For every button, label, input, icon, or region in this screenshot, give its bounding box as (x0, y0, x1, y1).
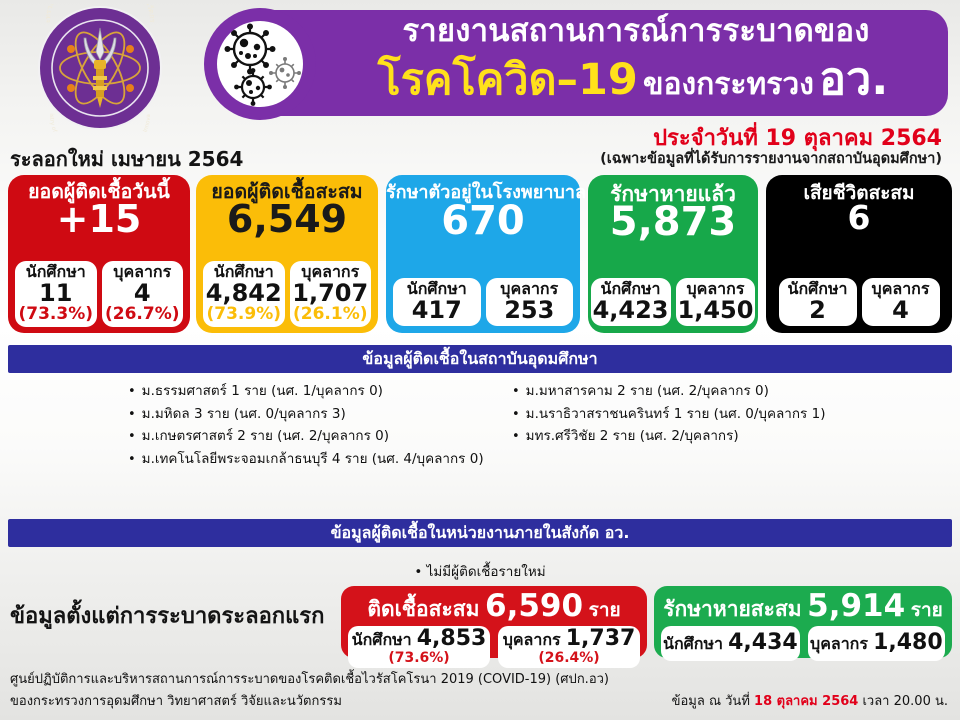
breakdown-label: บุคลากร (810, 634, 868, 653)
list-item-label: ม.มหาสารคาม 2 ราย (นศ. 2/บุคลากร 0) (526, 385, 769, 399)
stat-card-breakdown: นักศึกษา 4,423 บุคลากร 1,450 (588, 278, 758, 326)
breakdown-label: บุคลากร (503, 630, 561, 649)
summary-infected-unit: ราย (589, 599, 621, 621)
breakdown-students: นักศึกษา 4,842 (73.9%) (203, 261, 285, 327)
stat-card-total: 6 (766, 202, 952, 234)
footer-asof-prefix: ข้อมูล ณ วันที่ (672, 694, 754, 709)
breakdown-value: 4,853 (417, 626, 487, 651)
institution-list-left: •ม.ธรรมศาสตร์ 1 ราย (นศ. 1/บุคลากร 0) •ม… (128, 385, 528, 475)
breakdown-students: นักศึกษา 11 (73.3%) (15, 261, 97, 327)
summary-infected-label: ติดเชื้อสะสม (367, 597, 479, 621)
breakdown-pct: (73.6%) (350, 651, 488, 666)
breakdown-value: 4 (864, 298, 938, 323)
banner-agencies: ข้อมูลผู้ติดเชื้อในหน่วยงานภายในสังกัด อ… (8, 519, 952, 547)
footer: ศูนย์ปฏิบัติการและบริหารสถานการณ์การระบา… (0, 668, 960, 720)
bullet-icon: • (512, 408, 520, 421)
bullet-icon: • (128, 453, 136, 466)
breakdown-staff: บุคลากร 4 (862, 278, 940, 326)
list-item: •ม.เทคโนโลยีพระจอมเกล้าธนบุรี 4 ราย (นศ.… (128, 453, 528, 467)
stat-card-total: 5,873 (588, 203, 758, 242)
footer-asof-date: 18 ตุลาคม 2564 (754, 694, 858, 709)
breakdown-staff: บุคลากร 253 (486, 278, 574, 326)
list-item-label: ม.เทคโนโลยีพระจอมเกล้าธนบุรี 4 ราย (นศ. … (142, 453, 484, 467)
breakdown-students: นักศึกษา 417 (393, 278, 481, 326)
stat-card-breakdown: นักศึกษา 4,842 (73.9%) บุคลากร 1,707 (26… (196, 261, 378, 327)
breakdown-value: 1,450 (678, 298, 754, 323)
stat-card-total: +15 (8, 201, 190, 238)
banner-agencies-label: ข้อมูลผู้ติดเชื้อในหน่วยงานภายในสังกัด อ… (331, 521, 630, 546)
bullet-icon: • (512, 430, 520, 443)
breakdown-value: 4,434 (728, 630, 798, 655)
stat-card-recovered: รักษาหายแล้ว 5,873 นักศึกษา 4,423 บุคลาก… (588, 175, 758, 333)
breakdown-label: นักศึกษา (395, 280, 479, 298)
breakdown-label: บุคลากร (488, 280, 572, 298)
footer-line2: ของกระทรวงการอุดมศึกษา วิทยาศาสตร์ วิจัย… (10, 690, 342, 711)
footer-asof-suffix: เวลา 20.00 น. (858, 694, 948, 709)
mhesi-logo-graphic: กระทรวงการอุดมศึกษา วิทยาศาสตร์ วิจัยและ… (26, 4, 174, 132)
list-item: •ม.มหิดล 3 ราย (นศ. 0/บุคลากร 3) (128, 408, 528, 422)
breakdown-line: นักศึกษา 4,853 (350, 627, 488, 651)
breakdown-students: นักศึกษา 4,423 (591, 278, 671, 326)
list-item-label: ม.ธรรมศาสตร์ 1 ราย (นศ. 1/บุคลากร 0) (142, 385, 383, 399)
report-note: (เฉพาะข้อมูลที่ได้รับการรายงานจากสถาบันอ… (600, 147, 942, 170)
summary-infected-number: 6,590 (485, 588, 583, 624)
list-item: •ม.นราธิวาสราชนครินทร์ 1 ราย (นศ. 0/บุคล… (512, 408, 952, 422)
coronavirus-icon (217, 21, 303, 107)
list-item: •มทร.ศรีวิชัย 2 ราย (นศ. 2/บุคลากร) (512, 430, 952, 444)
summary-recovered-number: 5,914 (807, 588, 905, 624)
breakdown-value: 1,737 (566, 626, 636, 651)
stat-card-deaths: เสียชีวิตสะสม 6 นักศึกษา 2 บุคลากร 4 (766, 175, 952, 333)
list-item-label: ม.นราธิวาสราชนครินทร์ 1 ราย (นศ. 0/บุคลา… (526, 408, 826, 422)
bullet-icon: • (512, 385, 520, 398)
breakdown-pct: (26.1%) (292, 306, 370, 324)
stat-card-today: ยอดผู้ติดเชื้อวันนี้ +15 นักศึกษา 11 (73… (8, 175, 190, 333)
coronavirus-badge (204, 8, 316, 120)
breakdown-label: บุคลากร (864, 280, 938, 298)
breakdown-label: นักศึกษา (781, 280, 855, 298)
list-item-label: ม.เกษตรศาสตร์ 2 ราย (นศ. 2/บุคลากร 0) (142, 430, 389, 444)
breakdown-staff: บุคลากร 1,707 (26.1%) (290, 261, 372, 327)
stat-cards: ยอดผู้ติดเชื้อวันนี้ +15 นักศึกษา 11 (73… (0, 175, 960, 335)
coronavirus-icon-graphic (217, 21, 303, 107)
stat-card-breakdown: นักศึกษา 2 บุคลากร 4 (766, 278, 952, 326)
institution-list: •ม.ธรรมศาสตร์ 1 ราย (นศ. 1/บุคลากร 0) •ม… (0, 385, 960, 495)
list-item: •ม.ธรรมศาสตร์ 1 ราย (นศ. 1/บุคลากร 0) (128, 385, 528, 399)
banner-institutions: ข้อมูลผู้ติดเชื้อในสถาบันอุดมศึกษา (8, 345, 952, 373)
stat-card-total: 670 (386, 202, 580, 241)
bullet-icon: • (128, 408, 136, 421)
breakdown-staff: บุคลากร 1,450 (676, 278, 756, 326)
breakdown-line: นักศึกษา 4,434 (663, 631, 798, 655)
bullet-icon: • (128, 430, 136, 443)
breakdown-label: นักศึกษา (593, 280, 669, 298)
report-title-line2: โรคโควิด–19 ของกระทรวง อว. (318, 56, 948, 102)
stat-card-breakdown: นักศึกษา 11 (73.3%) บุคลากร 4 (26.7%) (8, 261, 190, 327)
header: กระทรวงการอุดมศึกษา วิทยาศาสตร์ วิจัยและ… (0, 0, 960, 128)
breakdown-value: 4,423 (593, 298, 669, 323)
breakdown-pct: (26.4%) (500, 651, 638, 666)
breakdown-students: นักศึกษา 4,434 (661, 626, 800, 661)
breakdown-value: 11 (17, 281, 95, 306)
title-covid: โรคโควิด–19 (378, 55, 638, 105)
summary-recovered-head: รักษาหายสะสม 5,914 ราย (661, 588, 945, 622)
summary-recovered-unit: ราย (911, 599, 943, 621)
summary-recovered-label: รักษาหายสะสม (663, 597, 801, 621)
stat-card-hospitalized: รักษาตัวอยู่ในโรงพยาบาล 670 นักศึกษา 417… (386, 175, 580, 333)
institution-list-right: •ม.มหาสารคาม 2 ราย (นศ. 2/บุคลากร 0) •ม.… (512, 385, 952, 453)
breakdown-line: บุคลากร 1,480 (810, 631, 943, 655)
breakdown-label: บุคลากร (678, 280, 754, 298)
stat-card-total: 6,549 (196, 201, 378, 238)
breakdown-label: นักศึกษา (663, 634, 723, 653)
breakdown-pct: (73.3%) (17, 306, 95, 324)
list-item-label: ม.มหิดล 3 ราย (นศ. 0/บุคลากร 3) (142, 408, 346, 422)
banner-institutions-label: ข้อมูลผู้ติดเชื้อในสถาบันอุดมศึกษา (362, 347, 597, 372)
breakdown-value: 4 (104, 281, 182, 306)
wave-label: ระลอกใหม่ เมษายน 2564 (10, 143, 243, 175)
summary-label: ข้อมูลตั้งแต่การระบาดระลอกแรก (10, 598, 324, 633)
footer-asof: ข้อมูล ณ วันที่ 18 ตุลาคม 2564 เวลา 20.0… (672, 690, 948, 711)
breakdown-pct: (73.9%) (205, 306, 283, 324)
breakdown-students: นักศึกษา 4,853 (73.6%) (348, 626, 490, 668)
breakdown-value: 417 (395, 298, 479, 323)
summary-infected-breakdown: นักศึกษา 4,853 (73.6%) บุคลากร 1,737 (26… (348, 626, 640, 668)
agency-no-new-cases: • ไม่มีผู้ติดเชื้อรายใหม่ (0, 560, 960, 582)
breakdown-line: บุคลากร 1,737 (500, 627, 638, 651)
breakdown-value: 1,480 (873, 630, 943, 655)
breakdown-staff: บุคลากร 1,737 (26.4%) (498, 626, 640, 668)
breakdown-staff: บุคลากร 1,480 (808, 626, 945, 661)
summary-recovered-breakdown: นักศึกษา 4,434 บุคลากร 1,480 (661, 626, 945, 661)
breakdown-pct: (26.7%) (104, 306, 182, 324)
breakdown-label: นักศึกษา (352, 630, 412, 649)
breakdown-value: 1,707 (292, 281, 370, 306)
title-of: ของกระทรวง (643, 67, 814, 102)
bullet-icon: • (128, 385, 136, 398)
stat-card-cumulative: ยอดผู้ติดเชื้อสะสม 6,549 นักศึกษา 4,842 … (196, 175, 378, 333)
breakdown-value: 4,842 (205, 281, 283, 306)
footer-line1: ศูนย์ปฏิบัติการและบริหารสถานการณ์การระบา… (10, 668, 609, 689)
summary-infected-total: ติดเชื้อสะสม 6,590 ราย นักศึกษา 4,853 (7… (341, 586, 647, 658)
breakdown-staff: บุคลากร 4 (26.7%) (102, 261, 184, 327)
title-ministry: อว. (819, 52, 888, 105)
mhesi-logo: กระทรวงการอุดมศึกษา วิทยาศาสตร์ วิจัยและ… (26, 4, 174, 132)
breakdown-value: 253 (488, 298, 572, 323)
breakdown-value: 2 (781, 298, 855, 323)
list-item-label: มทร.ศรีวิชัย 2 ราย (นศ. 2/บุคลากร) (526, 430, 739, 444)
breakdown-students: นักศึกษา 2 (779, 278, 857, 326)
list-item: •ม.เกษตรศาสตร์ 2 ราย (นศ. 2/บุคลากร 0) (128, 430, 528, 444)
stat-card-breakdown: นักศึกษา 417 บุคลากร 253 (386, 278, 580, 326)
report-title-line1: รายงานสถานการณ์การระบาดของ (330, 16, 942, 47)
list-item: •ม.มหาสารคาม 2 ราย (นศ. 2/บุคลากร 0) (512, 385, 952, 399)
summary-recovered-total: รักษาหายสะสม 5,914 ราย นักศึกษา 4,434 บุ… (654, 586, 952, 658)
summary-infected-head: ติดเชื้อสะสม 6,590 ราย (348, 588, 640, 622)
